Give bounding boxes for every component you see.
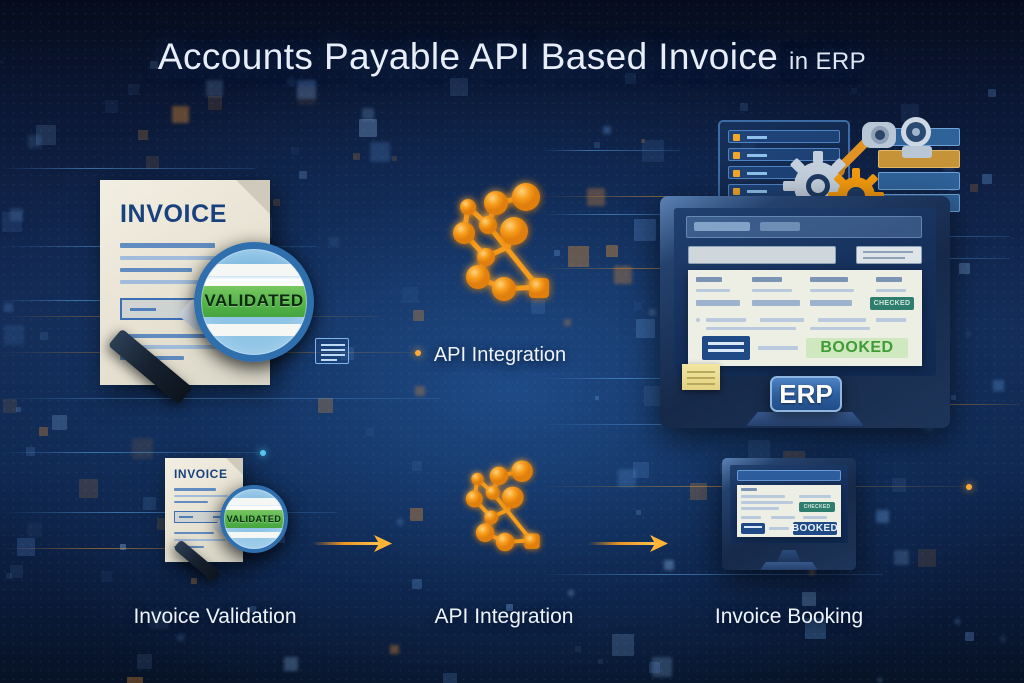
table-cell [741, 507, 779, 510]
table-column-header [752, 277, 782, 282]
table-cell [696, 289, 730, 292]
screen-action-button[interactable] [741, 523, 765, 534]
hero-erp-monitor: CHECKED BOOKED ERP [660, 196, 950, 428]
page-title: Accounts Payable API Based Invoice in ER… [0, 36, 1024, 78]
step-api-node-graph [448, 462, 556, 562]
table-cell [696, 300, 740, 306]
toolbar-item [760, 222, 800, 231]
arrow-right-icon [312, 533, 394, 555]
sticky-note [682, 364, 720, 390]
page-title-suffix: in ERP [789, 48, 866, 75]
table-cell [803, 516, 827, 519]
table-cell [810, 327, 870, 330]
invoice-folded-corner [226, 458, 243, 475]
screen-toolbar [737, 470, 841, 481]
arrow-api-to-booking [588, 533, 670, 560]
table-column-header [741, 488, 757, 491]
hero-invoice-heading: INVOICE [120, 200, 227, 229]
page-title-main: Accounts Payable API Based Invoice [158, 36, 778, 77]
step-label-invoice-validation: Invoice Validation [105, 605, 325, 629]
screen-data-panel: CHECKED BOOKED [688, 270, 922, 366]
hero-api-label: API Integration [400, 344, 600, 367]
screen-side-box [856, 246, 922, 264]
table-cell [810, 289, 854, 292]
node-network-icon [448, 462, 556, 562]
screen-status-chip: CHECKED [870, 297, 914, 310]
table-column-header [876, 277, 902, 282]
magnifier-handle [173, 539, 221, 582]
step-label-api-integration: API Integration [400, 605, 608, 629]
arrow-validation-to-api [312, 533, 394, 560]
table-bullet [696, 318, 700, 322]
table-column-header [810, 277, 848, 282]
screen-action-button[interactable] [702, 336, 750, 360]
hero-api-node-graph [430, 185, 570, 315]
table-cell [876, 289, 906, 292]
table-cell [799, 495, 831, 498]
screen-search-bar [688, 246, 836, 264]
magnifier-rim [220, 485, 288, 553]
table-cell [769, 527, 789, 530]
screen-booked-status: BOOKED [793, 522, 837, 535]
monitor-screen: CHECKED BOOKED [730, 465, 848, 543]
erp-badge: ERP [770, 376, 842, 412]
table-cell [818, 318, 866, 322]
step-magnifier: VALIDATED [175, 490, 285, 576]
table-cell [752, 300, 800, 306]
table-cell [758, 346, 798, 350]
table-cell [771, 516, 795, 519]
monitor-screen: CHECKED BOOKED [674, 208, 936, 376]
table-cell [741, 495, 785, 498]
mini-document-icon [315, 338, 349, 364]
monitor-stand-base [760, 562, 818, 570]
step-booking-monitor: CHECKED BOOKED [722, 458, 856, 570]
screen-booked-status: BOOKED [806, 338, 908, 358]
magnifier-rim [194, 242, 314, 362]
table-cell [810, 300, 852, 306]
table-cell [706, 327, 796, 330]
arrow-right-icon [588, 533, 670, 555]
table-cell [760, 318, 804, 322]
toolbar-item [694, 222, 750, 231]
table-column-header [696, 277, 722, 282]
table-cell [741, 516, 761, 519]
screen-data-panel: CHECKED BOOKED [737, 485, 841, 537]
magnifier-handle [108, 329, 193, 405]
infographic-canvas: Accounts Payable API Based Invoice in ER… [0, 0, 1024, 683]
table-cell [752, 289, 792, 292]
step-label-invoice-booking: Invoice Booking [685, 605, 893, 629]
monitor-stand-base [746, 412, 864, 426]
node-network-icon [430, 185, 570, 315]
table-cell [706, 318, 746, 322]
hero-magnifier: VALIDATED [110, 248, 310, 398]
table-cell [741, 501, 793, 504]
screen-status-chip: CHECKED [799, 502, 835, 512]
table-cell [876, 318, 906, 322]
invoice-folded-corner [236, 180, 270, 214]
step-invoice-heading: INVOICE [174, 467, 228, 481]
